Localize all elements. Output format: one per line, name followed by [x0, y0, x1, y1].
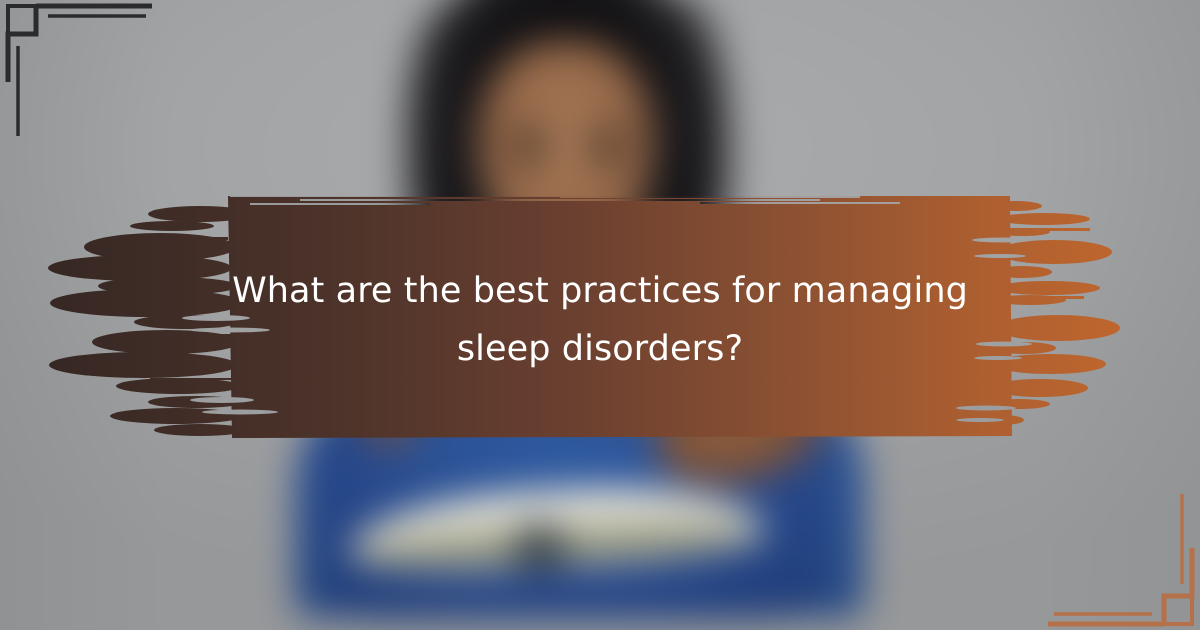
art-deco-corner-top-left: [4, 2, 164, 162]
headline-text: What are the best practices for managing…: [190, 262, 1010, 378]
art-deco-corner-bottom-right: [1036, 468, 1196, 628]
share-card: What are the best practices for managing…: [0, 0, 1200, 630]
